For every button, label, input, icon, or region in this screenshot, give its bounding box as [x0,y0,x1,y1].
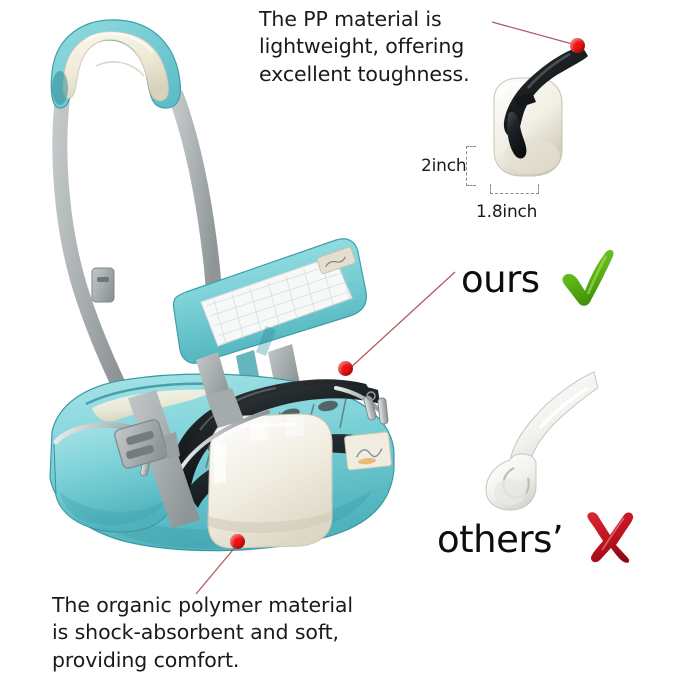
callout-text-top: The PP material is lightweight, offering… [259,6,509,88]
clip-others-illustration [470,368,600,513]
infographic-canvas: 2inch 1.8inch ours othersʼ [0,0,679,679]
dimension-bracket-width [490,184,539,194]
x-icon [580,508,636,564]
cream-polymer-seat [208,414,332,548]
label-ours: ours [461,258,540,301]
callout-dot-top [570,38,585,53]
label-others: othersʼ [437,518,563,561]
brand-tag [344,432,391,470]
callout-text-bottom: The organic polymer material is shock-ab… [52,592,392,674]
dimension-height-label: 2inch [421,156,466,176]
dimension-width-label: 1.8inch [476,202,537,222]
callout-dot-ours [338,361,353,376]
back-support-panel [174,239,367,364]
product-illustration [0,0,430,600]
strap-adjuster-upper [92,268,114,302]
dimension-bracket-height [466,146,476,186]
callout-dot-bottom [230,534,245,549]
shoulder-strap-pad [51,20,180,108]
check-icon [556,246,618,308]
